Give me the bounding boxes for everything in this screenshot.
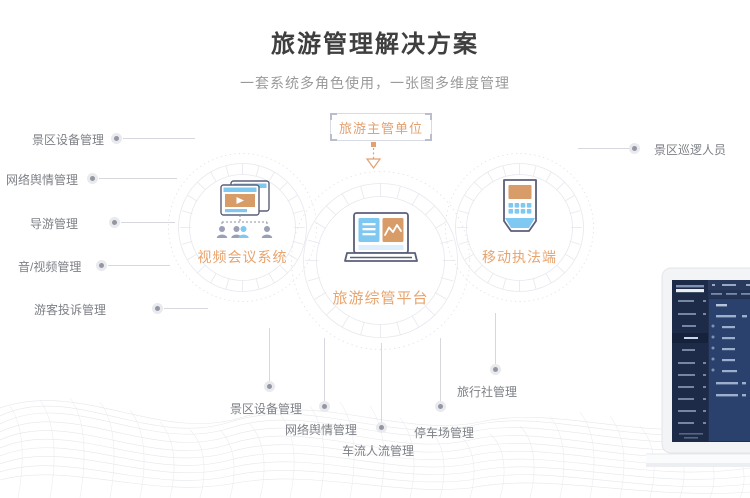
node-label-mobile-enforcement: 移动执法端	[442, 247, 597, 267]
bottom-label-0[interactable]: 景区设备管理	[230, 400, 302, 417]
connector-line-bottom-2	[324, 338, 325, 402]
connector-dot-left-2	[87, 173, 98, 184]
connector-dot-bottom-1	[264, 381, 275, 392]
left-label-3[interactable]: 音/视频管理	[18, 258, 81, 275]
bottom-label-1[interactable]: 网络舆情管理	[285, 421, 357, 438]
badge-corner-top-left	[330, 113, 337, 120]
mobile-device-icon	[496, 177, 544, 243]
connector-line-bottom-3	[381, 343, 382, 423]
connector-dot-left-4	[96, 260, 107, 271]
video-conference-icon	[209, 178, 279, 242]
laptop-dashboard-icon	[341, 211, 421, 273]
connector-dot-right-1	[629, 143, 640, 154]
dashboard-laptop-mockup	[646, 258, 750, 498]
bottom-label-3[interactable]: 停车场管理	[414, 424, 474, 441]
connector-dot-bottom-5	[490, 364, 501, 375]
left-label-1[interactable]: 网络舆情管理	[6, 171, 78, 188]
header: 旅游管理解决方案 一套系统多角色使用，一张图多维度管理	[0, 0, 750, 93]
connector-line-bottom-1	[269, 328, 270, 382]
connector-dot-bottom-4	[435, 401, 446, 412]
connector-dot-bottom-2	[319, 401, 330, 412]
connector-dot-left-3	[109, 217, 120, 228]
connector-line-left-5	[164, 308, 208, 309]
badge-corner-top-right	[425, 113, 432, 120]
connector-line-right-1	[578, 148, 630, 149]
bottom-label-2[interactable]: 车流人流管理	[342, 442, 414, 459]
cluster-mobile-enforcement[interactable]: 移动执法端	[442, 150, 597, 305]
authority-badge[interactable]: 旅游主管单位	[330, 113, 432, 141]
infographic-canvas: 旅游管理解决方案 一套系统多角色使用，一张图多维度管理 旅游主管单位	[0, 0, 750, 498]
connector-dot-left-1	[111, 133, 122, 144]
background-wave-mesh	[0, 358, 750, 498]
connector-dot-bottom-3	[376, 422, 387, 433]
right-label-0[interactable]: 景区巡逻人员	[654, 141, 726, 158]
bottom-label-4[interactable]: 旅行社管理	[457, 383, 517, 400]
authority-badge-label: 旅游主管单位	[339, 118, 423, 137]
connector-line-bottom-4	[440, 338, 441, 402]
left-label-0[interactable]: 景区设备管理	[32, 131, 104, 148]
badge-corner-bottom-left	[330, 134, 337, 141]
connector-line-bottom-5	[495, 313, 496, 365]
left-label-2[interactable]: 导游管理	[30, 215, 78, 232]
connector-dot-left-5	[152, 303, 163, 314]
authority-badge-wrapper: 旅游主管单位	[330, 113, 432, 141]
connector-line-left-4	[108, 265, 170, 266]
connector-line-left-1	[123, 138, 195, 139]
connector-line-left-2	[99, 178, 177, 179]
page-title: 旅游管理解决方案	[0, 24, 750, 59]
badge-corner-bottom-right	[425, 134, 432, 141]
connector-line-left-3	[121, 222, 175, 223]
page-subtitle: 一套系统多角色使用，一张图多维度管理	[0, 73, 750, 93]
left-label-4[interactable]: 游客投诉管理	[34, 301, 106, 318]
